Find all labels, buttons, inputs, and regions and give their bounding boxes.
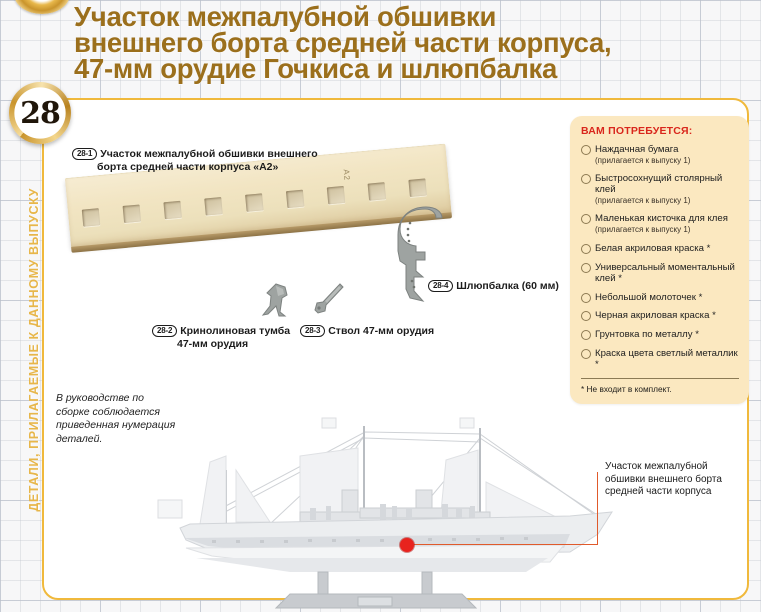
plank-slot <box>163 201 181 219</box>
checklist-item-label: Белая акриловая краска * <box>595 243 710 254</box>
part-name-28-2-line-1: Кринолиновая тумба <box>180 325 290 337</box>
checklist-item-label: Универсальный моментальный клей * <box>595 262 735 285</box>
checkbox-circle-icon[interactable] <box>581 293 591 303</box>
checklist-item-label: Наждачная бумага <box>595 144 678 155</box>
ship-callout-line-3: средней части корпуса <box>605 486 745 499</box>
checkbox-circle-icon[interactable] <box>581 311 591 321</box>
ship-model-photo <box>150 412 650 610</box>
checklist-item-label: Черная акриловая краска * <box>595 310 716 321</box>
checklist-item[interactable]: Белая акриловая краска * <box>581 243 739 255</box>
checklist-item-sub: (прилагается к выпуску 1) <box>595 196 739 206</box>
part-image-crinoline-pedestal <box>258 282 298 320</box>
materials-checklist-list: Наждачная бумага (прилагается к выпуску … <box>581 144 739 371</box>
part-label-28-4: 28-4Шлюпбалка (60 мм) <box>428 280 578 293</box>
checklist-item-sub: (прилагается к выпуску 1) <box>595 225 690 234</box>
checkbox-circle-icon[interactable] <box>581 244 591 254</box>
part-number-28-2: 28-2 <box>152 325 177 337</box>
checkbox-circle-icon[interactable] <box>581 330 591 340</box>
location-marker-dot <box>400 538 414 552</box>
checklist-item-label: Краска цвета светлый металлик * <box>595 348 738 371</box>
checklist-footnote: * Не входит в комплект. <box>581 384 739 394</box>
plank-slot <box>204 197 222 215</box>
plank-slot <box>123 204 141 222</box>
checklist-item[interactable]: Маленькая кисточка для клея (прилагается… <box>581 213 739 236</box>
callout-leader-horizontal <box>407 544 598 545</box>
checkbox-circle-icon[interactable] <box>581 349 591 359</box>
part-name-28-1-line-2: борта средней части корпуса «А2» <box>72 161 322 174</box>
checkbox-circle-icon[interactable] <box>581 174 591 184</box>
part-name-28-3-line-1: Ствол 47-мм орудия <box>328 325 434 337</box>
ship-callout-line-2: обшивки внешнего борта <box>605 474 745 487</box>
gold-ring-decoration <box>14 0 70 14</box>
checklist-divider <box>581 378 739 379</box>
page-title: Участок межпалубной обшивки внешнего бор… <box>74 4 724 82</box>
part-number-28-4: 28-4 <box>428 280 453 292</box>
materials-checklist-heading: ВАМ ПОТРЕБУЕТСЯ: <box>581 125 739 137</box>
checkbox-circle-icon[interactable] <box>581 263 591 273</box>
part-image-gun-barrel <box>312 282 346 316</box>
checklist-item[interactable]: Черная акриловая краска * <box>581 310 739 322</box>
page-title-line-3: 47-мм орудие Гочкиса и шлюпбалка <box>74 56 724 82</box>
checklist-item[interactable]: Наждачная бумага (прилагается к выпуску … <box>581 144 739 166</box>
materials-checklist-panel: ВАМ ПОТРЕБУЕТСЯ: Наждачная бумага (прила… <box>570 116 749 404</box>
checklist-item[interactable]: Грунтовка по металлу * <box>581 329 739 341</box>
part-label-28-2: 28-2Кринолиновая тумба 47-мм орудия <box>152 325 302 351</box>
part-number-28-1: 28-1 <box>72 148 97 160</box>
checklist-item[interactable]: Быстросохнущий столярный клей (прилагает… <box>581 173 739 206</box>
part-name-28-1-line-1: Участок межпалубной обшивки внешнего <box>100 148 317 160</box>
plank-slot <box>245 193 263 211</box>
checkbox-circle-icon[interactable] <box>581 145 591 155</box>
part-image-davit <box>392 205 444 309</box>
checklist-item-label: Небольшой молоточек * <box>595 292 702 303</box>
checkbox-circle-icon[interactable] <box>581 214 591 224</box>
issue-number-badge: 28 <box>9 82 71 144</box>
callout-leader-vertical <box>597 472 598 545</box>
ship-callout-label: Участок межпалубной обшивки внешнего бор… <box>605 461 745 499</box>
part-label-28-1: 28-1Участок межпалубной обшивки внешнего… <box>72 148 322 174</box>
plank-part-mark: A2 <box>342 169 352 182</box>
checklist-item[interactable]: Универсальный моментальный клей * <box>581 262 739 285</box>
checklist-item[interactable]: Краска цвета светлый металлик * <box>581 348 739 371</box>
side-tab-label: ДЕТАЛИ, ПРИЛАГАЕМЫЕ К ДАННОМУ ВЫПУСКУ <box>27 188 41 512</box>
plank-slot <box>286 190 304 208</box>
checklist-item-label: Быстросохнущий столярный клей <box>595 173 722 196</box>
plank-slot <box>82 208 100 226</box>
checklist-item-label: Грунтовка по металлу * <box>595 329 699 340</box>
plank-slot <box>327 186 345 204</box>
part-name-28-2-line-2: 47-мм орудия <box>152 338 302 351</box>
part-number-28-3: 28-3 <box>300 325 325 337</box>
ship-callout-line-1: Участок межпалубной <box>605 461 745 474</box>
issue-number-value: 28 <box>20 96 60 131</box>
plank-slot <box>368 182 386 200</box>
checklist-item-sub: (прилагается к выпуску 1) <box>595 156 739 166</box>
part-label-28-3: 28-3Ствол 47-мм орудия <box>300 325 460 338</box>
plank-slot <box>408 178 426 196</box>
part-name-28-4-line-1: Шлюпбалка (60 мм) <box>456 280 559 292</box>
checklist-item[interactable]: Небольшой молоточек * <box>581 292 739 304</box>
checklist-item-label: Маленькая кисточка для клея <box>595 213 728 224</box>
